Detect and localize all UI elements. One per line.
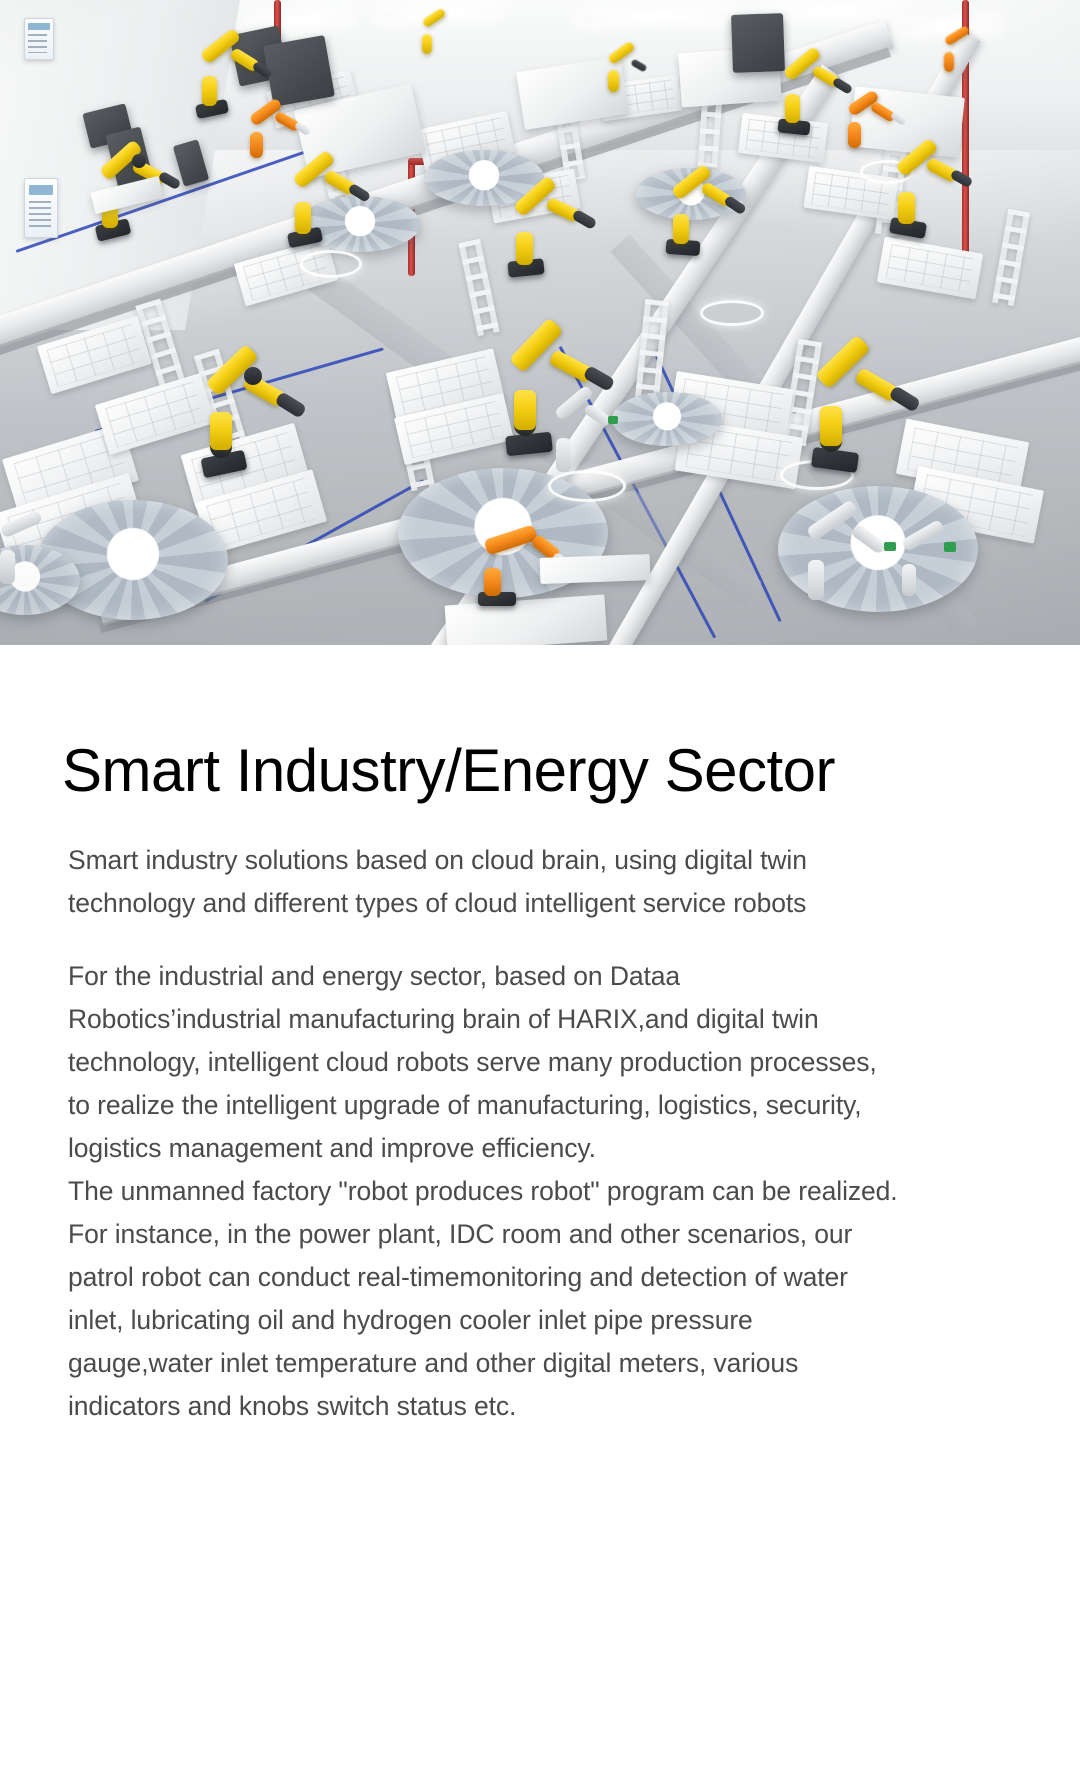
- robot-segment: [673, 214, 689, 244]
- rotary-pallet-table: [300, 196, 420, 252]
- product-crate: [95, 373, 215, 455]
- robot-indicator: [884, 542, 896, 551]
- equipment-panel: [263, 35, 335, 107]
- article-paragraph: For the industrial and energy sector, ba…: [68, 955, 898, 1170]
- robot-segment: [808, 560, 824, 600]
- agv-cart: [540, 554, 651, 584]
- robot-indicator: [944, 542, 956, 552]
- article-paragraph: The unmanned factory "robot produces rob…: [68, 1170, 898, 1213]
- robot-segment: [556, 438, 571, 472]
- workcell-halo: [300, 250, 362, 278]
- robot-segment: [484, 568, 501, 596]
- article-lead-paragraph: Smart industry solutions based on cloud …: [68, 839, 898, 925]
- equipment-panel: [731, 13, 785, 73]
- factory-scene-render: [0, 0, 1080, 645]
- robot-segment: [210, 412, 232, 450]
- robot-indicator: [608, 416, 618, 424]
- robot-segment: [820, 406, 842, 446]
- workcell-halo: [700, 300, 764, 326]
- robot-segment: [944, 52, 954, 72]
- robot-segment: [898, 192, 915, 224]
- robot-segment: [295, 202, 311, 234]
- rotary-pallet-table: [612, 392, 722, 446]
- robot-joint: [132, 154, 146, 168]
- wall-sign: [24, 18, 54, 60]
- article-content: Smart Industry/Energy Sector Smart indus…: [0, 645, 1080, 1428]
- robot-segment: [250, 132, 263, 158]
- robot-segment: [608, 70, 619, 92]
- rack-ladder: [635, 299, 669, 401]
- rack-ladder: [458, 239, 499, 336]
- wall-sign: [24, 178, 58, 238]
- rack-ladder: [992, 209, 1030, 306]
- article-paragraph: For instance, in the power plant, IDC ro…: [68, 1213, 898, 1428]
- robot-joint: [244, 367, 262, 385]
- robot-segment: [202, 76, 217, 106]
- page-title: Smart Industry/Energy Sector: [0, 645, 1080, 801]
- robot-segment: [902, 564, 916, 596]
- robot-segment: [848, 122, 861, 148]
- article-body: Smart industry solutions based on cloud …: [0, 801, 1080, 1428]
- robot-segment: [516, 232, 533, 265]
- robot-gripper: [571, 209, 597, 231]
- robot-segment: [0, 550, 15, 584]
- robot-segment: [514, 390, 536, 430]
- robot-segment: [785, 94, 800, 123]
- robot-gripper: [274, 391, 307, 419]
- robot-segment: [422, 34, 432, 54]
- workcell-halo: [548, 470, 626, 502]
- hero-image: [0, 0, 1080, 645]
